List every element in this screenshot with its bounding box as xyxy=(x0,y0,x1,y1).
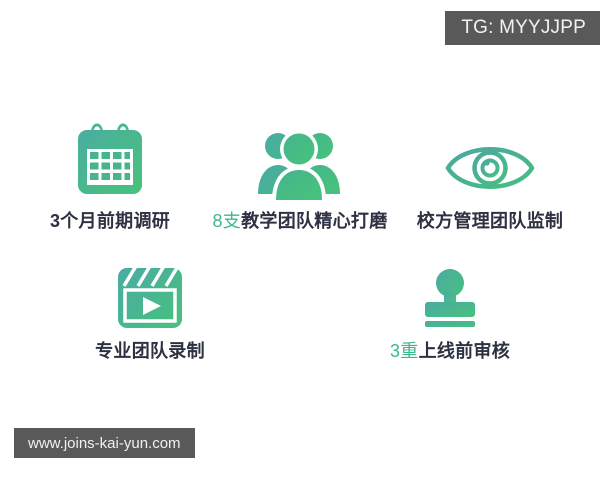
feature-label: 3个月前期调研 xyxy=(50,212,170,230)
infographic-canvas: TG: MYYJJPP xyxy=(0,0,600,480)
eye-icon xyxy=(443,122,537,200)
feature-label: 8支教学团队精心打磨 xyxy=(212,212,387,230)
feature-text: 教学团队精心打磨 xyxy=(241,211,387,231)
feature-item: 3重上线前审核 xyxy=(360,252,540,360)
stamp-icon xyxy=(416,252,484,330)
feature-item: 8支教学团队精心打磨 xyxy=(210,122,390,230)
feature-accent: 8支 xyxy=(212,211,241,231)
people-group-icon xyxy=(256,122,344,200)
feature-text: 3个月前期调研 xyxy=(50,211,170,231)
feature-text: 专业团队录制 xyxy=(95,341,205,361)
feature-item: 3个月前期调研 xyxy=(20,122,200,230)
feature-text: 上线前审核 xyxy=(419,341,511,361)
feature-accent: 3重 xyxy=(390,341,419,361)
feature-label: 3重上线前审核 xyxy=(390,342,510,360)
watermark-label: www.joins-kai-yun.com xyxy=(28,435,181,452)
calendar-icon xyxy=(72,122,148,200)
feature-item: 专业团队录制 xyxy=(60,252,240,360)
tg-badge-label: TG: MYYJJPP xyxy=(461,17,586,39)
feature-item: 校方管理团队监制 xyxy=(400,122,580,230)
feature-label: 专业团队录制 xyxy=(95,342,205,360)
tg-badge: TG: MYYJJPP xyxy=(445,11,600,45)
feature-row-bottom: 专业团队录制 xyxy=(0,252,600,360)
site-watermark: www.joins-kai-yun.com xyxy=(14,428,195,458)
clapperboard-play-icon xyxy=(116,252,184,330)
feature-text: 校方管理团队监制 xyxy=(417,211,563,231)
feature-row-top: 3个月前期调研 xyxy=(0,122,600,230)
feature-label: 校方管理团队监制 xyxy=(417,212,563,230)
